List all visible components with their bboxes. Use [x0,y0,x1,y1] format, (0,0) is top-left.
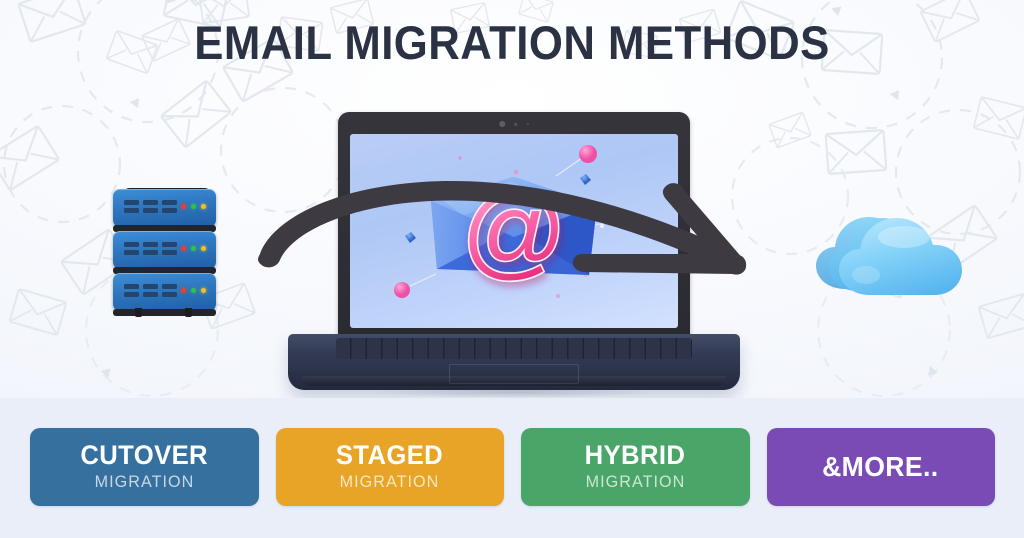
webcam-icon [499,121,529,127]
method-button-staged[interactable]: STAGED MIGRATION [276,428,505,506]
led-red-icon [181,246,186,251]
server-leds [181,246,206,251]
method-subtitle: MIGRATION [94,471,194,493]
led-green-icon [191,246,196,251]
method-title: &MORE.. [823,452,939,481]
method-subtitle: MIGRATION [585,471,685,493]
migration-arrow [236,168,796,290]
server-rack-icon [113,186,218,312]
server-foot [185,308,192,317]
server-leds [181,204,206,209]
server-unit [113,231,216,269]
server-leds [181,288,206,293]
led-red-icon [181,204,186,209]
led-green-icon [191,288,196,293]
migration-methods-list: CUTOVER MIGRATION STAGED MIGRATION HYBRI… [30,428,995,506]
method-title: HYBRID [585,441,686,469]
server-vents [124,284,177,297]
server-vents [124,242,177,255]
server-unit [113,273,216,311]
server-unit [113,189,216,227]
infographic-canvas: EMAIL MIGRATION METHODS [0,0,1024,538]
page-title: EMAIL MIGRATION METHODS [36,18,988,68]
laptop-base [288,334,740,390]
method-button-more[interactable]: &MORE.. [767,428,996,506]
method-button-hybrid[interactable]: HYBRID MIGRATION [521,428,750,506]
cloud-icon [806,203,976,303]
led-green-icon [191,204,196,209]
laptop-trackpad [449,364,579,384]
method-subtitle: MIGRATION [340,471,440,493]
led-red-icon [181,288,186,293]
method-title: CUTOVER [80,441,208,469]
method-title: STAGED [336,441,443,469]
led-yellow-icon [201,204,206,209]
led-yellow-icon [201,288,206,293]
server-foot [135,308,142,317]
server-vents [124,200,177,213]
method-button-cutover[interactable]: CUTOVER MIGRATION [30,428,259,506]
laptop-keyboard [336,338,692,359]
led-yellow-icon [201,246,206,251]
